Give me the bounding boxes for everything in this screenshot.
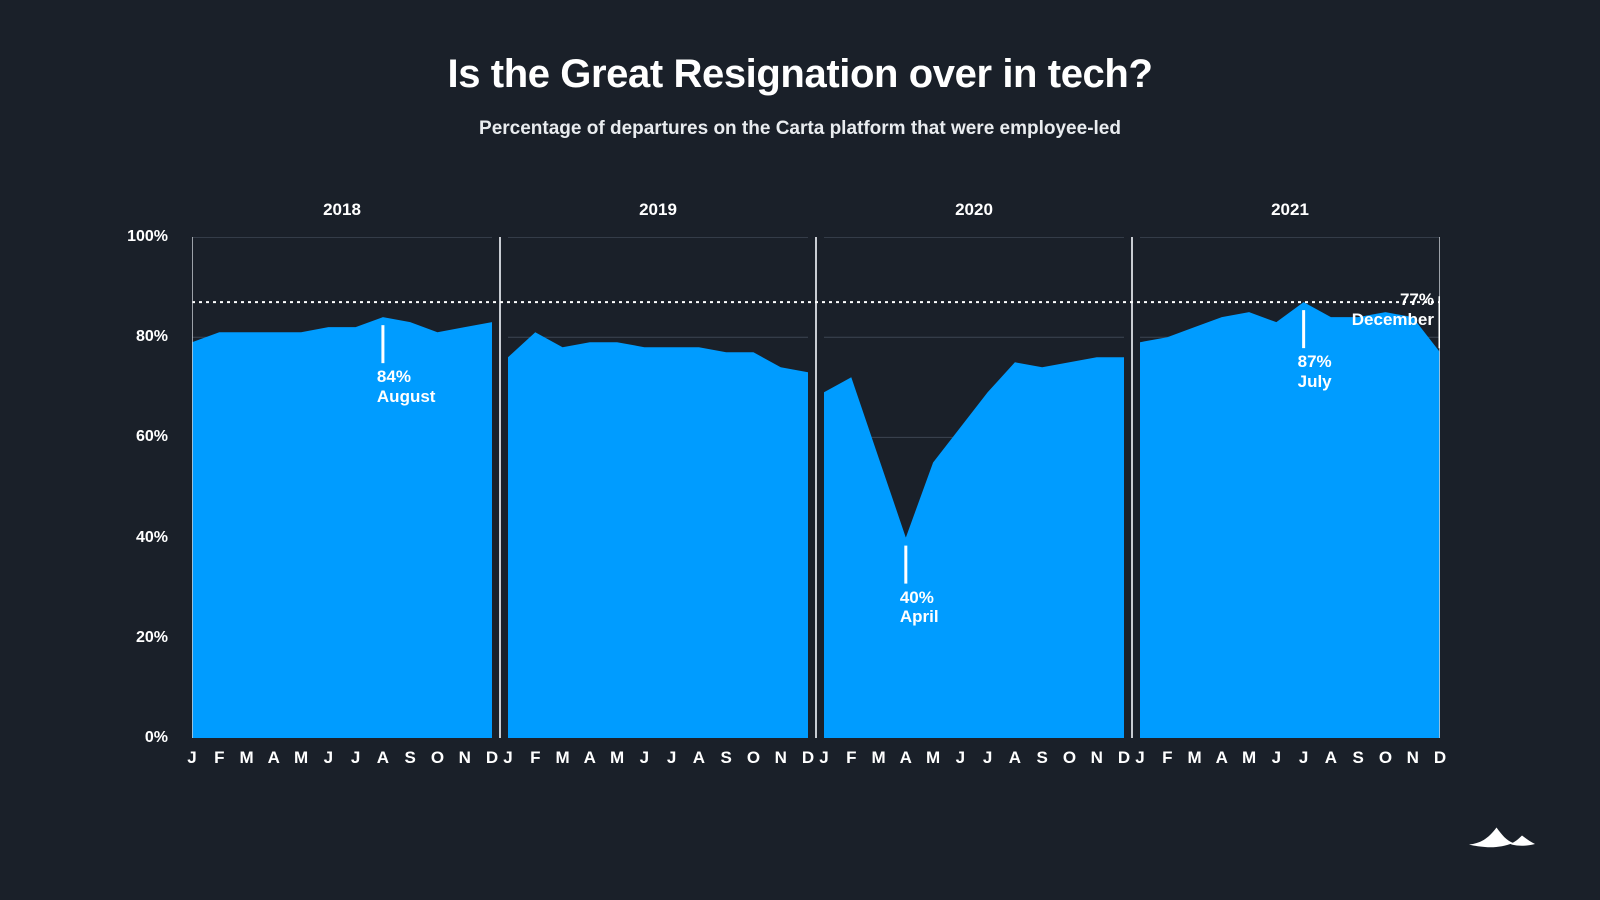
annotation-value-a2018: 84% bbox=[377, 367, 436, 386]
annotation-value-a2021dec: 77% bbox=[1330, 290, 1434, 309]
x-axis-tick-2020-D11: D bbox=[1118, 748, 1130, 768]
x-axis-tick-2019-A3: A bbox=[584, 748, 596, 768]
annotation-period-a2021dec: December bbox=[1330, 310, 1434, 329]
x-axis-tick-2020-F1: F bbox=[846, 748, 856, 768]
x-axis-tick-2018-M4: M bbox=[294, 748, 308, 768]
x-axis-tick-2020-M4: M bbox=[926, 748, 940, 768]
x-axis-tick-2018-A3: A bbox=[268, 748, 280, 768]
y-axis: 0%20%40%60%80%100% bbox=[0, 237, 180, 738]
x-axis-tick-2020-J6: J bbox=[983, 748, 992, 768]
y-axis-tick-40: 40% bbox=[0, 529, 180, 547]
carta-logo bbox=[1466, 818, 1538, 854]
plot-area bbox=[192, 237, 1440, 738]
page-subtitle: Percentage of departures on the Carta pl… bbox=[0, 118, 1600, 140]
x-axis-tick-2020-M2: M bbox=[871, 748, 885, 768]
x-axis-tick-2018-J6: J bbox=[351, 748, 360, 768]
x-axis-tick-2019-S8: S bbox=[721, 748, 732, 768]
area-series-2019 bbox=[508, 332, 808, 738]
x-axis-tick-2021-J0: J bbox=[1135, 748, 1144, 768]
page-title: Is the Great Resignation over in tech? bbox=[0, 52, 1600, 97]
area-series-2018 bbox=[192, 317, 492, 738]
annotation-a2018: 84%August bbox=[377, 367, 436, 406]
x-axis-tick-2018-D11: D bbox=[486, 748, 498, 768]
x-axis-tick-2018-M2: M bbox=[239, 748, 253, 768]
x-axis-tick-2019-N10: N bbox=[775, 748, 787, 768]
x-axis-tick-2020-A7: A bbox=[1009, 748, 1021, 768]
x-axis-tick-2019-M2: M bbox=[555, 748, 569, 768]
annotation-value-a2021july: 87% bbox=[1298, 352, 1332, 371]
x-axis-tick-2018-O9: O bbox=[431, 748, 444, 768]
annotation-period-a2020: April bbox=[900, 607, 939, 626]
area-series-2021 bbox=[1140, 302, 1440, 738]
area-chart-svg bbox=[192, 237, 1440, 738]
chart-page: Is the Great Resignation over in tech? P… bbox=[0, 0, 1600, 900]
x-axis-tick-2020-J0: J bbox=[819, 748, 828, 768]
x-axis-tick-2021-D11: D bbox=[1434, 748, 1446, 768]
x-axis-tick-2021-M2: M bbox=[1187, 748, 1201, 768]
annotation-a2021july: 87%July bbox=[1298, 352, 1332, 391]
x-axis-tick-2021-J5: J bbox=[1272, 748, 1281, 768]
x-axis-tick-2020-J5: J bbox=[956, 748, 965, 768]
x-axis-tick-2021-A3: A bbox=[1216, 748, 1228, 768]
x-axis-tick-2018-A7: A bbox=[377, 748, 389, 768]
x-axis-tick-2018-N10: N bbox=[459, 748, 471, 768]
annotation-a2020: 40%April bbox=[900, 588, 939, 627]
x-axis-tick-2020-S8: S bbox=[1037, 748, 1048, 768]
x-axis-tick-2021-A7: A bbox=[1325, 748, 1337, 768]
year-label-2020: 2020 bbox=[955, 200, 993, 220]
x-axis-tick-2019-M4: M bbox=[610, 748, 624, 768]
x-axis: JFMAMJJASONDJFMAMJJASONDJFMAMJJASONDJFMA… bbox=[192, 748, 1440, 782]
x-axis-tick-2021-F1: F bbox=[1162, 748, 1172, 768]
annotation-a2021dec: 77%December bbox=[1330, 290, 1434, 329]
x-axis-tick-2020-A3: A bbox=[900, 748, 912, 768]
x-axis-tick-2021-S8: S bbox=[1353, 748, 1364, 768]
x-axis-tick-2020-O9: O bbox=[1063, 748, 1076, 768]
x-axis-tick-2019-D11: D bbox=[802, 748, 814, 768]
x-axis-tick-2021-O9: O bbox=[1379, 748, 1392, 768]
x-axis-tick-2018-J0: J bbox=[187, 748, 196, 768]
annotation-period-a2018: August bbox=[377, 387, 436, 406]
year-label-row: 2018201920202021 bbox=[192, 200, 1440, 228]
x-axis-tick-2019-A7: A bbox=[693, 748, 705, 768]
x-axis-tick-2021-N10: N bbox=[1407, 748, 1419, 768]
annotation-value-a2020: 40% bbox=[900, 588, 939, 607]
y-axis-tick-0: 0% bbox=[0, 729, 180, 747]
x-axis-tick-2019-J0: J bbox=[503, 748, 512, 768]
year-label-2021: 2021 bbox=[1271, 200, 1309, 220]
x-axis-tick-2021-J6: J bbox=[1299, 748, 1308, 768]
year-label-2019: 2019 bbox=[639, 200, 677, 220]
y-axis-tick-20: 20% bbox=[0, 629, 180, 647]
x-axis-tick-2019-J5: J bbox=[640, 748, 649, 768]
area-series-2020 bbox=[824, 357, 1124, 738]
annotation-period-a2021july: July bbox=[1298, 372, 1332, 391]
x-axis-tick-2021-M4: M bbox=[1242, 748, 1256, 768]
x-axis-tick-2019-J6: J bbox=[667, 748, 676, 768]
x-axis-tick-2018-F1: F bbox=[214, 748, 224, 768]
x-axis-tick-2019-F1: F bbox=[530, 748, 540, 768]
year-label-2018: 2018 bbox=[323, 200, 361, 220]
x-axis-tick-2020-N10: N bbox=[1091, 748, 1103, 768]
y-axis-tick-80: 80% bbox=[0, 328, 180, 346]
x-axis-tick-2019-O9: O bbox=[747, 748, 760, 768]
x-axis-tick-2018-J5: J bbox=[324, 748, 333, 768]
y-axis-tick-100: 100% bbox=[0, 228, 180, 246]
x-axis-tick-2018-S8: S bbox=[405, 748, 416, 768]
y-axis-tick-60: 60% bbox=[0, 428, 180, 446]
